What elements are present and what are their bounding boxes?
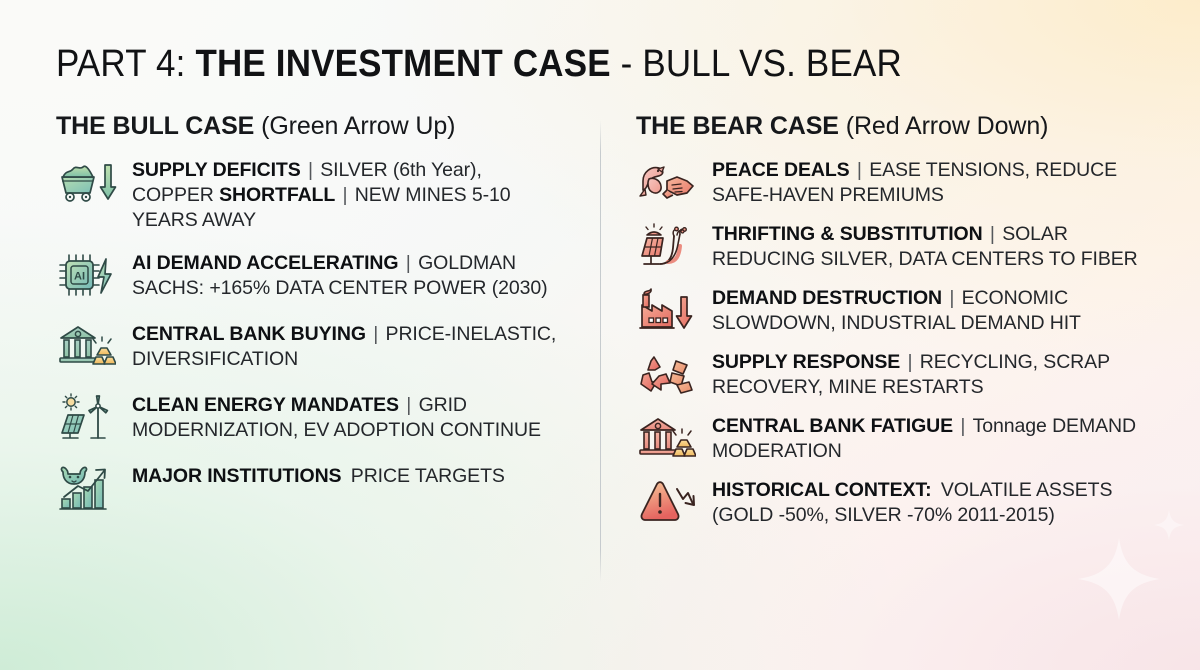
list-item-text: THRIFTING & SUBSTITUTION | SOLAR REDUCIN… [712,219,1170,272]
item-key: DEMAND DESTRUCTION [712,287,942,309]
list-item-text: SUPPLY DEFICITS | SILVER (6th Year), COP… [132,155,564,233]
bull-items-list: SUPPLY DEFICITS | SILVER (6th Year), COP… [56,155,564,517]
item-value: PRICE TARGETS [351,465,505,487]
slide-title: PART 4: THE INVESTMENT CASE - BULL VS. B… [56,38,1156,90]
item-key: MAJOR INSTITUTIONS [132,465,341,487]
list-item: AI AI DEMAND ACCELERATING | GOLDMAN SACH… [56,248,564,304]
item-key-2: SHORTFALL [219,184,335,206]
list-item: PEACE DEALS | EASE TENSIONS, REDUCE SAFE… [636,155,1170,208]
item-separator: | [398,252,418,274]
list-item-text: CENTRAL BANK FATIGUE | Tonnage DEMAND MO… [712,411,1170,464]
item-separator: | [850,159,870,181]
item-separator: | [900,351,920,373]
slide-canvas: PART 4: THE INVESTMENT CASE - BULL VS. B… [0,0,1200,670]
item-key: SUPPLY DEFICITS [132,159,301,181]
list-item: SUPPLY DEFICITS | SILVER (6th Year), COP… [56,155,564,233]
factory-down-arrow-icon [636,285,698,335]
item-separator: | [399,394,419,416]
item-separator [931,479,940,501]
item-separator [341,465,350,487]
list-item: HISTORICAL CONTEXT: VOLATILE ASSETS (GOL… [636,475,1170,528]
list-item: THRIFTING & SUBSTITUTION | SOLAR REDUCIN… [636,219,1170,272]
list-item-text: AI DEMAND ACCELERATING | GOLDMAN SACHS: … [132,248,564,301]
bull-chart-icon [56,463,118,513]
warning-declining-arrow-icon [636,477,698,527]
bank-gold-bars-icon [56,321,118,371]
item-key: CLEAN ENERGY MANDATES [132,394,399,416]
list-item-text: SUPPLY RESPONSE | RECYCLING, SCRAP RECOV… [712,347,1170,400]
item-key: THRIFTING & SUBSTITUTION [712,223,983,245]
bear-items-list: PEACE DEALS | EASE TENSIONS, REDUCE SAFE… [636,155,1170,528]
item-key: CENTRAL BANK BUYING [132,323,366,345]
item-key: CENTRAL BANK FATIGUE [712,415,953,437]
list-item: CENTRAL BANK FATIGUE | Tonnage DEMAND MO… [636,411,1170,464]
title-suffix: - BULL VS. BEAR [611,43,902,85]
list-item-text: PEACE DEALS | EASE TENSIONS, REDUCE SAFE… [712,155,1170,208]
bear-heading-bold: THE BEAR CASE [636,112,839,140]
ai-chip-bolt-icon: AI [56,250,118,300]
bull-heading-bold: THE BULL CASE [56,112,254,140]
title-prefix: PART 4: [56,43,195,85]
bull-case-heading: THE BULL CASE (Green Arrow Up) [56,112,564,141]
dove-handshake-icon [636,157,698,207]
svg-text:AI: AI [74,271,85,283]
item-separator: | [953,415,973,437]
item-separator-2: | [335,184,355,206]
list-item: MAJOR INSTITUTIONS PRICE TARGETS [56,461,564,517]
mine-cart-down-arrow-icon [56,157,118,207]
list-item-text: DEMAND DESTRUCTION | ECONOMIC SLOWDOWN, … [712,283,1170,336]
solar-fiber-icon [636,221,698,271]
list-item: CLEAN ENERGY MANDATES | GRID MODERNIZATI… [56,390,564,446]
item-key: PEACE DEALS [712,159,850,181]
list-item: SUPPLY RESPONSE | RECYCLING, SCRAP RECOV… [636,347,1170,400]
list-item: CENTRAL BANK BUYING | PRICE-INELASTIC, D… [56,319,564,375]
solar-wind-icon [56,392,118,442]
item-key: HISTORICAL CONTEXT: [712,479,931,501]
bull-case-column: THE BULL CASE (Green Arrow Up) [0,112,600,652]
bear-case-column: THE BEAR CASE (Red Arrow Down) [600,112,1200,652]
list-item-text: MAJOR INSTITUTIONS PRICE TARGETS [132,461,505,489]
bear-case-heading: THE BEAR CASE (Red Arrow Down) [636,112,1170,141]
bear-heading-light: (Red Arrow Down) [839,112,1048,140]
title-emphasis: THE INVESTMENT CASE [195,43,610,85]
item-key: AI DEMAND ACCELERATING [132,252,398,274]
item-separator: | [983,223,1003,245]
list-item-text: HISTORICAL CONTEXT: VOLATILE ASSETS (GOL… [712,475,1170,528]
bank-gold-bars-icon [636,413,698,463]
recycling-scrap-icon [636,349,698,399]
item-separator: | [366,323,386,345]
bull-heading-light: (Green Arrow Up) [254,112,455,140]
list-item: DEMAND DESTRUCTION | ECONOMIC SLOWDOWN, … [636,283,1170,336]
list-item-text: CLEAN ENERGY MANDATES | GRID MODERNIZATI… [132,390,564,443]
item-key: SUPPLY RESPONSE [712,351,900,373]
list-item-text: CENTRAL BANK BUYING | PRICE-INELASTIC, D… [132,319,564,372]
item-separator: | [942,287,962,309]
item-separator: | [301,159,321,181]
columns-container: THE BULL CASE (Green Arrow Up) [0,112,1200,652]
